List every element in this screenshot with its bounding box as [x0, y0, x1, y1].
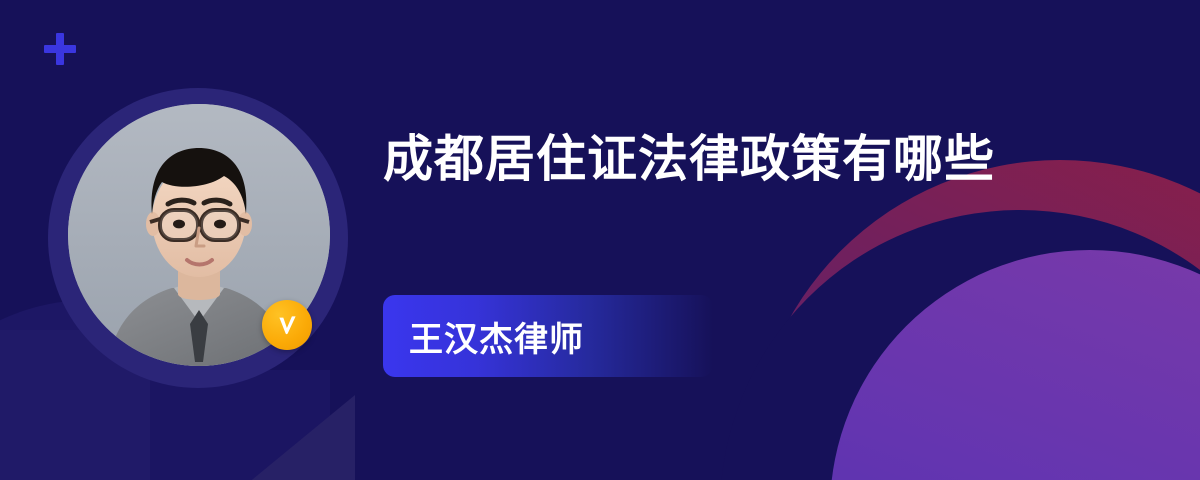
crimson-arc-inner-mask [720, 210, 1200, 480]
plus-icon-vertical-bar [56, 33, 64, 65]
author-name-label: 王汉杰律师 [409, 312, 584, 361]
verified-badge-icon [262, 300, 312, 350]
content-block: 成都居住证法律政策有哪些 王汉杰律师 [383, 120, 1123, 198]
article-cover-banner: 成都居住证法律政策有哪些 王汉杰律师 [0, 0, 1200, 480]
violet-arc-shape [830, 250, 1200, 480]
avatar[interactable] [48, 88, 348, 388]
crimson-arc-shape [750, 160, 1200, 480]
plus-icon [44, 33, 76, 65]
page-title: 成都居住证法律政策有哪些 [383, 120, 1073, 198]
author-name-badge[interactable]: 王汉杰律师 [383, 295, 713, 377]
angled-slab-shape-3 [185, 395, 355, 480]
